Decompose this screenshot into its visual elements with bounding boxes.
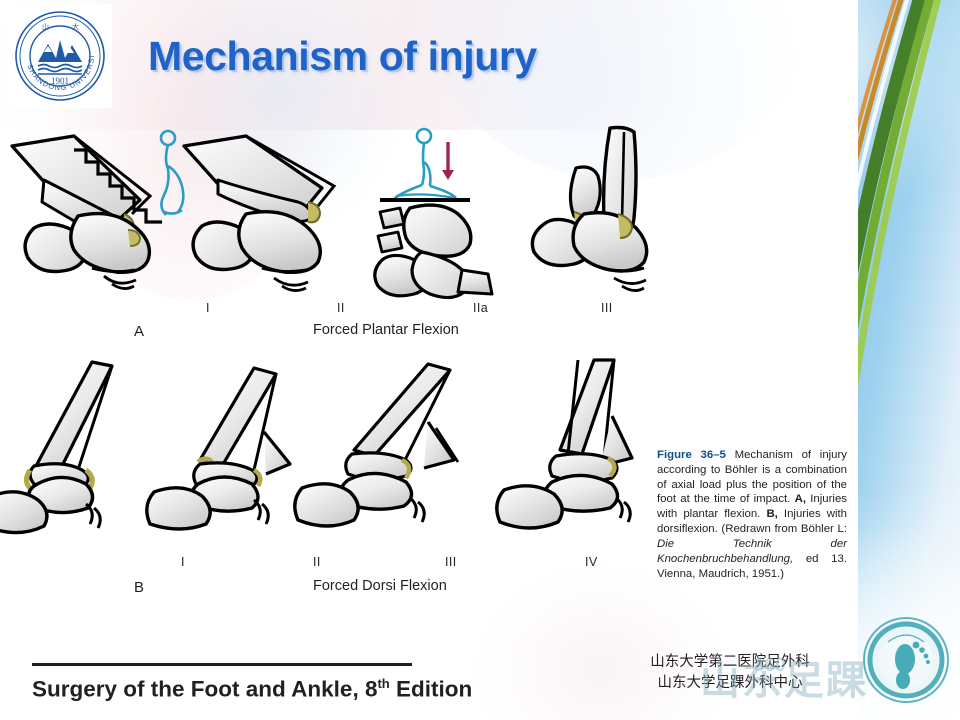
- figure-a-stage-3: [532, 128, 646, 291]
- book-title-ordinal: th: [377, 676, 389, 691]
- book-title-footer: Surgery of the Foot and Ankle, 8th Editi…: [32, 676, 472, 703]
- figure-b-stage-3: [295, 364, 458, 526]
- book-title-tail: Edition: [390, 677, 473, 702]
- panel-a-caption: Forced Plantar Flexion: [313, 322, 459, 338]
- footer-divider: [32, 663, 412, 666]
- figure-number: Figure 36–5: [657, 449, 726, 461]
- slide-canvas: 1901 SHANDONG UNIVERSITY 山 大 Mechanism o…: [0, 0, 960, 720]
- svg-text:大: 大: [72, 22, 79, 31]
- page-title: Mechanism of injury: [148, 33, 537, 80]
- foot-ankle-center-seal: [858, 612, 954, 708]
- figure-a-stage-2: [184, 136, 334, 291]
- shandong-university-logo: 1901 SHANDONG UNIVERSITY 山 大: [8, 4, 112, 108]
- panel-b-letter: B: [134, 579, 144, 596]
- figure-b-stage-2: [147, 368, 290, 529]
- panel-b-caption: Forced Dorsi Flexion: [313, 578, 447, 594]
- figure-b-stage-label-2: II: [313, 555, 321, 569]
- panel-a-illustration: [0, 118, 858, 333]
- figure-a-stage-label-3: IIa: [473, 301, 488, 315]
- svg-text:山: 山: [42, 22, 49, 31]
- figure-a-stage-2a: [375, 129, 492, 298]
- watermark-badge: 360: [754, 655, 786, 677]
- logo-icon: 1901 SHANDONG UNIVERSITY 山 大: [8, 4, 112, 108]
- figure-b-stage-1: [0, 362, 112, 533]
- figure-b-stage-label-3: III: [445, 555, 457, 569]
- figure-caption-body: Mechanism of injury according to Böhler …: [657, 449, 847, 580]
- figure-caption: Figure 36–5 Mechanism of injury accordin…: [657, 448, 847, 581]
- figure-a-stage-label-4: III: [601, 301, 613, 315]
- book-title-main: Surgery of the Foot and Ankle, 8: [32, 677, 377, 702]
- figure-a-stage-label-2: II: [337, 301, 345, 315]
- figure-b-stage-4: [497, 360, 632, 528]
- figure-b-stage-label-4: IV: [585, 555, 598, 569]
- panel-a-letter: A: [134, 323, 144, 340]
- figure-b-stage-label-1: I: [181, 555, 185, 569]
- figure-a-stage-label-1: I: [206, 301, 210, 315]
